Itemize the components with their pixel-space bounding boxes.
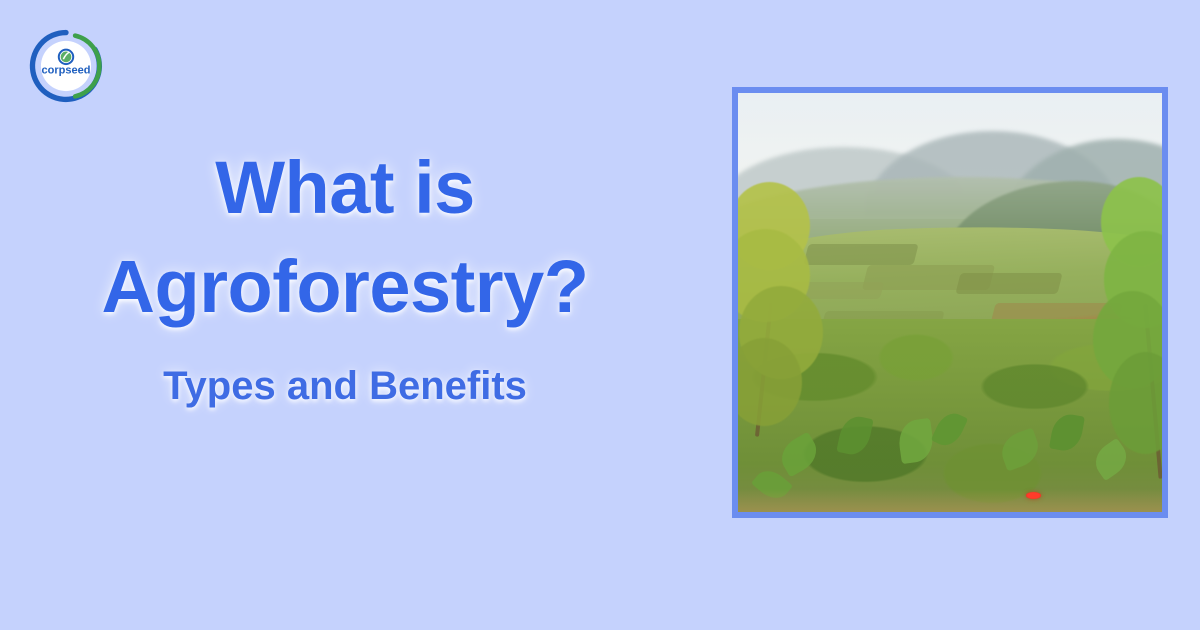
banner-canvas: corpseed What is Agroforestry? Types and… bbox=[0, 0, 1200, 630]
photo-field-patch bbox=[956, 273, 1063, 294]
page-title-line-2: Agroforestry? bbox=[0, 237, 700, 336]
page-title-line-1: What is bbox=[0, 138, 700, 237]
photo-frame bbox=[732, 87, 1168, 518]
photo-leaf bbox=[931, 408, 969, 450]
photo-tree-right bbox=[1060, 177, 1162, 479]
photo-dry-grass bbox=[738, 489, 1162, 512]
photo-leaf bbox=[775, 431, 823, 477]
agroforestry-landscape-photo bbox=[738, 93, 1162, 512]
corpseed-logo-mark: corpseed bbox=[28, 28, 104, 104]
page-subtitle: Types and Benefits bbox=[0, 362, 700, 410]
photo-tree-left bbox=[738, 177, 848, 437]
photo-red-flower bbox=[1026, 492, 1040, 499]
photo-leaf bbox=[996, 427, 1043, 471]
photo-leaf bbox=[896, 417, 935, 464]
corpseed-logo[interactable]: corpseed bbox=[28, 28, 104, 104]
headline-block: What is Agroforestry? Types and Benefits bbox=[0, 138, 700, 410]
corpseed-wordmark: corpseed bbox=[42, 65, 91, 77]
